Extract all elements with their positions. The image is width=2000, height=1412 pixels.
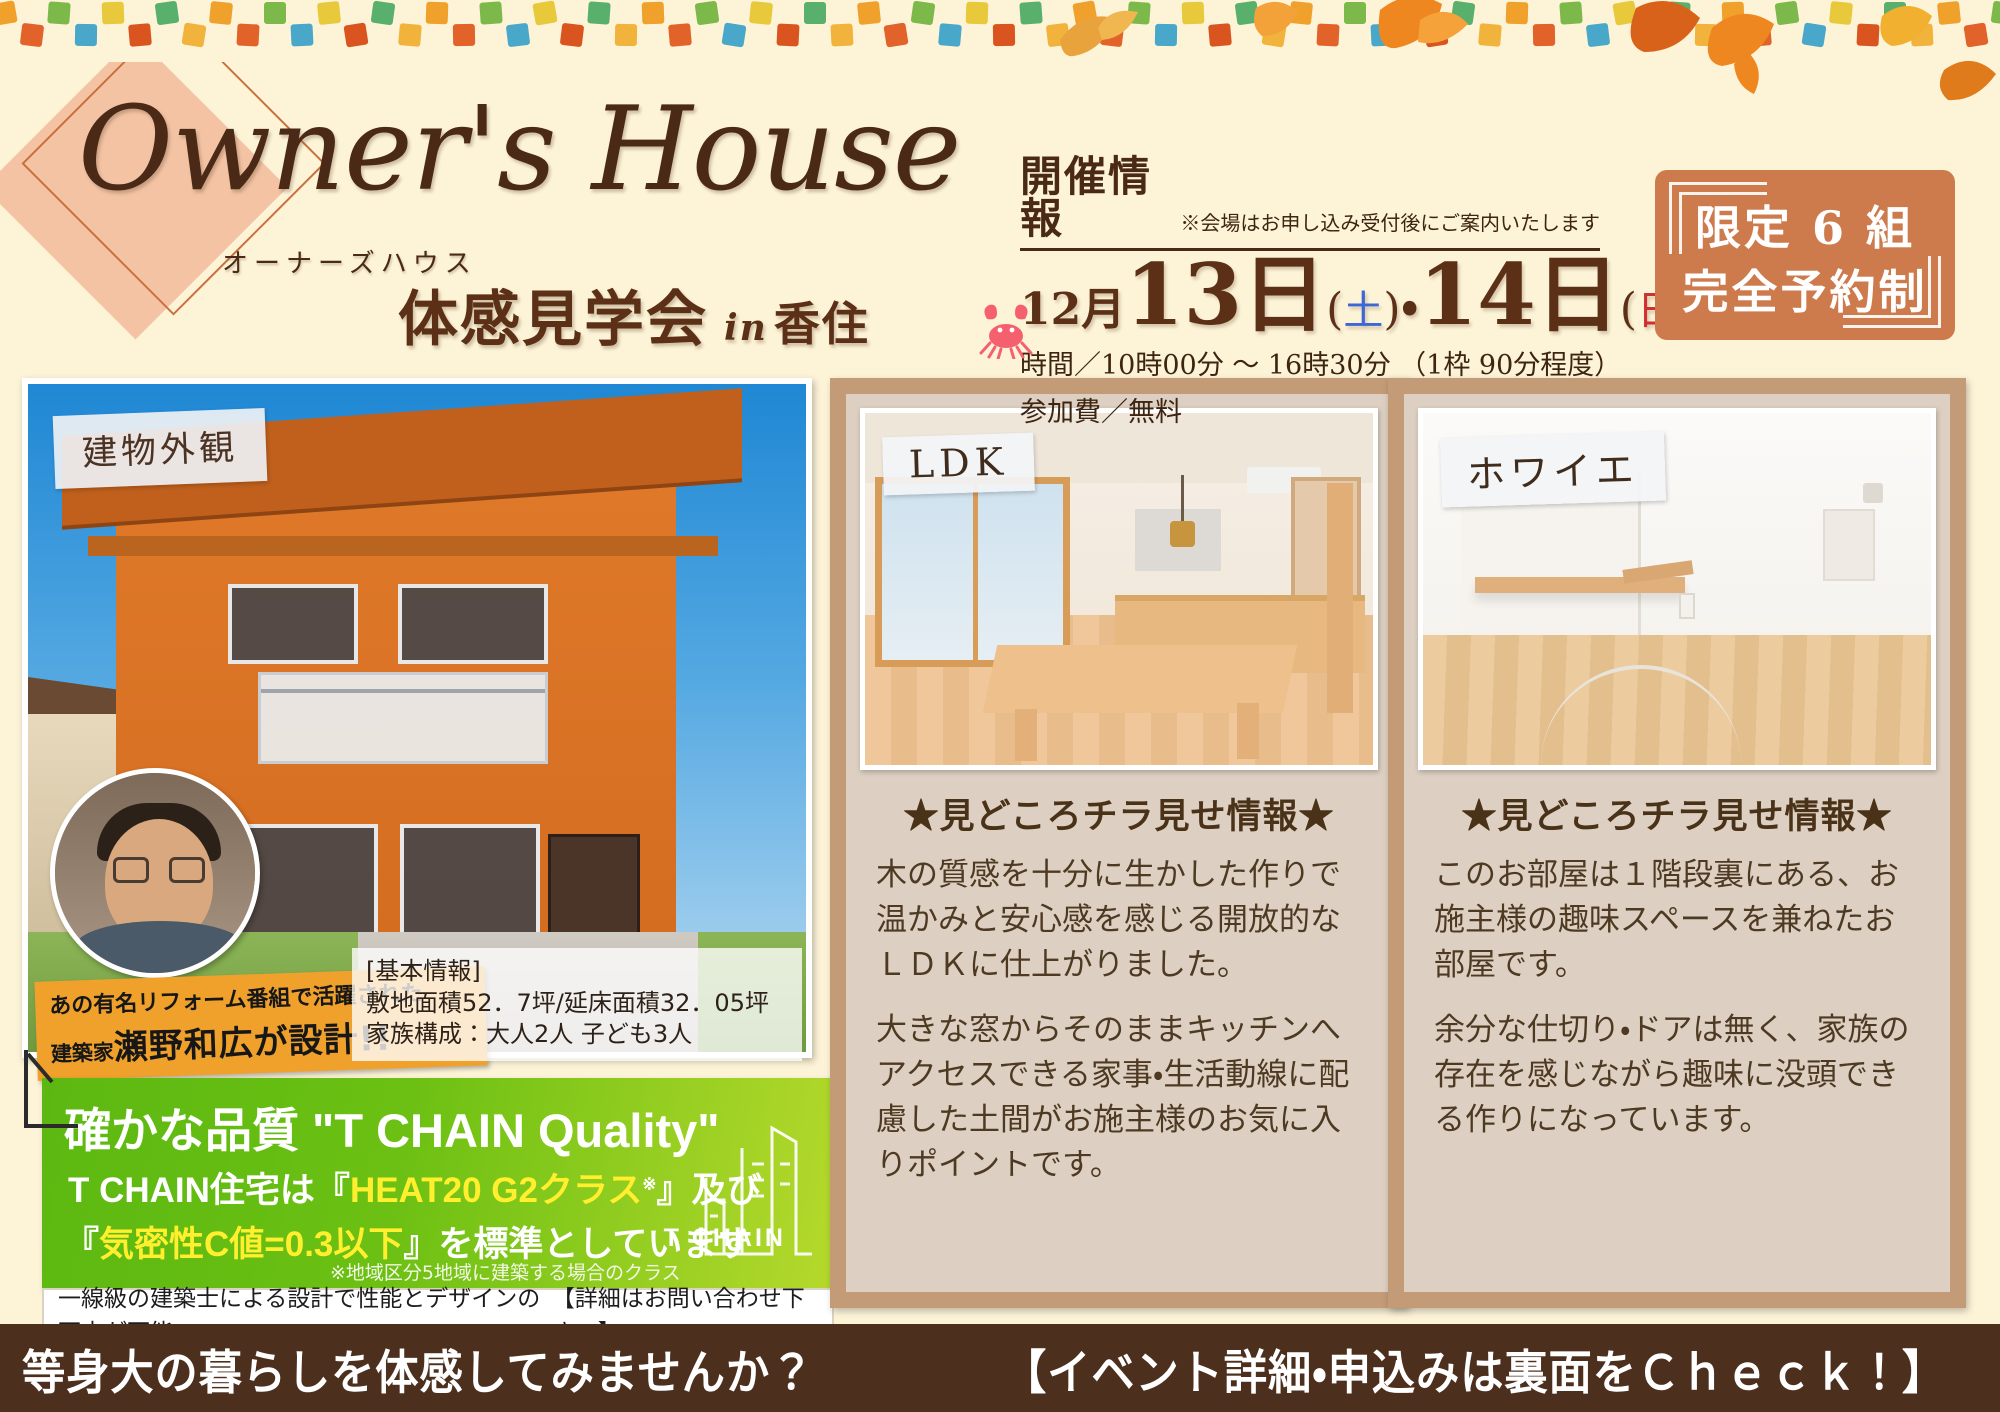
- confetti-square: [1533, 24, 1555, 46]
- event-day-1: 13日: [1125, 245, 1326, 344]
- panel-ldk-inner: LDK ★見どころチラ見せ情報★ 木の質感を十分に生かした作りで温かみと安心感を…: [846, 394, 1392, 1292]
- confetti-square: [398, 23, 422, 47]
- confetti-square: [1829, 1, 1853, 25]
- confetti-square: [1640, 23, 1665, 48]
- confetti-square: [236, 23, 259, 46]
- confetti-square: [1370, 23, 1393, 46]
- reservation-badge: 限定 6 組 完全予約制: [1655, 170, 1955, 340]
- confetti-square: [1612, 0, 1637, 25]
- event-day-2: 14日: [1419, 245, 1620, 344]
- quality-banner: 確かな品質 "T CHAIN Quality" T CHAIN住宅は『HEAT2…: [42, 1078, 834, 1288]
- event-info-block: 開催情報 ※会場はお申し込み受付後にご案内いたします 12月13日(土)・14日…: [1020, 156, 1600, 429]
- confetti-square: [1019, 1, 1042, 24]
- top-confetti-border: [0, 0, 2000, 62]
- confetti-square: [1208, 23, 1232, 47]
- confetti-square: [1261, 22, 1286, 47]
- photo-eave: [88, 536, 718, 556]
- bottom-banner-right-text: 【イベント詳細・申込みは裏面をＣｈｅｃｋ！】: [1003, 1334, 1946, 1403]
- avatar-glasses-icon: [113, 857, 205, 883]
- bottom-banner-left-text: 等身大の暮らしを体感してみませんか？: [22, 1334, 814, 1403]
- confetti-square: [1423, 22, 1448, 47]
- event-fee-line: 参加費／無料: [1020, 390, 1600, 429]
- confetti-square: [1695, 24, 1717, 46]
- ldk-pendant-lamp-icon: [1181, 475, 1184, 523]
- confetti-square: [615, 24, 637, 46]
- corner-arrow-icon: [22, 1048, 82, 1128]
- confetti-square: [1748, 23, 1772, 47]
- confetti-square: [1910, 23, 1933, 46]
- poster-header: Owner's House オーナーズハウス 体感見学会in香住 開催情報 ※会…: [0, 58, 2000, 368]
- confetti-square: [668, 23, 692, 47]
- foyer-paragraph-1: このお部屋は１階段裏にある、お施主様の趣味スペースを兼ねたお部屋です。: [1434, 853, 1924, 988]
- panel-ldk: LDK ★見どころチラ見せ情報★ 木の質感を十分に生かした作りで温かみと安心感を…: [830, 378, 1408, 1308]
- confetti-square: [47, 1, 70, 24]
- event-time-line: 時間／10時00分 〜 16時30分 （1枠 90分程度）: [1020, 343, 1600, 382]
- confetti-square: [1884, 2, 1906, 24]
- confetti-square: [181, 22, 206, 47]
- photo-balcony: [258, 672, 548, 764]
- confetti-square: [209, 1, 233, 25]
- panel-foyer: ホワイエ ★見どころチラ見せ情報★ このお部屋は１階段裏にある、お施主様の趣味ス…: [1388, 378, 1966, 1308]
- confetti-square: [1100, 23, 1125, 48]
- confetti-square: [642, 2, 665, 25]
- foyer-highlight-heading: ★見どころチラ見せ情報★: [1404, 788, 1950, 839]
- paren-open-2: (: [1620, 284, 1637, 335]
- paren-close-1: ): [1383, 284, 1400, 335]
- quality-line2-a: T CHAIN住宅は『: [68, 1171, 350, 1210]
- ldk-paragraph-2: 大きな窓からそのままキッチンへアクセスできる家事・生活動線に配慮した土間がお施主…: [876, 1008, 1366, 1188]
- confetti-square: [587, 1, 610, 24]
- event-dates: 12月13日(土)・14日(日): [1020, 253, 1600, 337]
- confetti-square: [479, 1, 502, 24]
- confetti-square: [938, 23, 962, 47]
- confetti-squares: [0, 0, 2000, 48]
- foyer-description: このお部屋は１階段裏にある、お施主様の趣味スペースを兼ねたお部屋です。 余分な仕…: [1404, 839, 1950, 1163]
- confetti-square: [532, 0, 557, 25]
- confetti-square: [20, 23, 45, 48]
- foyer-photo: ホワイエ: [1418, 408, 1936, 770]
- ldk-table-leg-right: [1237, 703, 1259, 759]
- foyer-light-switch-icon: [1679, 593, 1695, 619]
- confetti-square: [1722, 2, 1745, 25]
- quality-heat20-highlight: HEAT20 G2クラス: [350, 1171, 642, 1210]
- confetti-square: [0, 0, 18, 25]
- crab-icon: [975, 303, 1037, 364]
- basic-info-family: 家族構成：大人2人 子ども3人: [366, 1019, 790, 1051]
- confetti-square: [1506, 2, 1529, 25]
- confetti-square: [1235, 1, 1260, 26]
- confetti-square: [453, 24, 475, 46]
- confetti-square: [426, 2, 449, 25]
- foyer-shelf: [1823, 509, 1875, 581]
- architect-avatar: [50, 768, 260, 978]
- ldk-table-leg-left: [1015, 709, 1037, 761]
- confetti-square: [1316, 23, 1339, 46]
- confetti-square: [883, 22, 908, 47]
- confetti-square: [993, 24, 1015, 46]
- confetti-square: [1397, 1, 1421, 25]
- confetti-square: [560, 23, 585, 48]
- badge-reservation-text: 完全予約制: [1655, 256, 1955, 322]
- confetti-square: [695, 1, 720, 26]
- confetti-square: [1963, 22, 1988, 47]
- quality-line3-a: 『: [64, 1225, 99, 1264]
- photo-window-1: [228, 584, 358, 664]
- confetti-square: [1586, 23, 1611, 48]
- event-venue-note: ※会場はお申し込み受付後にご案内いたします: [1180, 207, 1600, 240]
- event-subtitle: 体感見学会in香住: [398, 271, 870, 358]
- confetti-square: [966, 2, 989, 25]
- ldk-paragraph-1: 木の質感を十分に生かした作りで温かみと安心感を感じる開放的なＬＤＫに仕上がりまし…: [876, 853, 1366, 988]
- bottom-banner: 等身大の暮らしを体感してみませんか？ 【イベント詳細・申込みは裏面をＣｈｅｃｋ！…: [0, 1324, 2000, 1412]
- badge-limit-text: 限定 6 組: [1655, 192, 1955, 258]
- ldk-photo: LDK: [860, 408, 1378, 770]
- confetti-square: [264, 2, 286, 24]
- confetti-square: [1775, 1, 1800, 26]
- confetti-square: [1801, 22, 1826, 47]
- confetti-square: [343, 22, 368, 47]
- confetti-square: [1667, 1, 1690, 24]
- confetti-square: [749, 1, 773, 25]
- location-name: 香住: [774, 297, 870, 351]
- confetti-square: [1182, 2, 1205, 25]
- panel-foyer-inner: ホワイエ ★見どころチラ見せ情報★ このお部屋は１階段裏にある、お施主様の趣味ス…: [1404, 394, 1950, 1292]
- confetti-square: [1559, 1, 1582, 24]
- confetti-square: [128, 23, 152, 47]
- basic-info-box: [基本情報] 敷地面積52．7坪/延床面積32．05坪 家族構成：大人2人 子ど…: [352, 948, 802, 1061]
- architect-name: 瀬野和広が設計!!: [113, 1018, 392, 1068]
- confetti-square: [1127, 1, 1150, 24]
- confetti-square: [1478, 23, 1502, 47]
- ldk-description: 木の質感を十分に生かした作りで温かみと安心感を感じる開放的なＬＤＫに仕上がりまし…: [846, 839, 1392, 1208]
- photo-balcony-rail: [261, 689, 545, 693]
- quality-headline: 確かな品質 "T CHAIN Quality": [64, 1092, 720, 1161]
- left-column: 建物外観 あの有名リフォーム番組で活躍された 建築家瀬野和広が設計!! [基本情…: [22, 378, 812, 1308]
- confetti-square: [1046, 23, 1071, 48]
- confetti-square: [102, 2, 125, 25]
- confetti-square: [506, 23, 531, 48]
- avatar-shirt: [75, 921, 245, 973]
- event-day-1-weekday: 土: [1343, 288, 1383, 334]
- foyer-paragraph-2: 余分な仕切り・ドアは無く、家族の存在を感じながら趣味に没頭できる作りになっていま…: [1434, 1008, 1924, 1143]
- ldk-photo-tag: LDK: [882, 433, 1035, 496]
- basic-info-title: [基本情報]: [366, 956, 790, 988]
- confetti-square: [1451, 1, 1476, 26]
- confetti-square: [830, 23, 853, 46]
- foyer-photo-tag: ホワイエ: [1440, 432, 1666, 508]
- confetti-square: [1072, 0, 1097, 25]
- ldk-wooden-post: [1327, 483, 1353, 713]
- confetti-square: [1856, 23, 1879, 46]
- confetti-square: [371, 1, 396, 26]
- event-info-heading: 開催情報: [1020, 156, 1168, 240]
- confetti-square: [721, 22, 746, 47]
- confetti-square: [155, 1, 180, 26]
- foyer-wall-panel: [1863, 483, 1883, 503]
- date-separator: ・: [1400, 274, 1418, 337]
- confetti-square: [290, 23, 313, 46]
- confetti-square: [911, 1, 936, 26]
- confetti-square: [776, 23, 799, 46]
- ldk-highlight-heading: ★見どころチラ見せ情報★: [846, 788, 1392, 839]
- page-title: Owner's House: [78, 82, 960, 217]
- confetti-square: [317, 1, 341, 25]
- paren-open-1: (: [1326, 284, 1343, 335]
- confetti-square: [804, 2, 826, 24]
- confetti-square: [1344, 2, 1366, 24]
- photo-window-2: [398, 584, 548, 664]
- subtitle-text: 体感見学会: [398, 285, 708, 355]
- ldk-glass-door: [875, 477, 1070, 667]
- confetti-square: [1155, 24, 1177, 46]
- location-preposition: in: [708, 307, 774, 349]
- confetti-square: [1937, 1, 1961, 25]
- confetti-square: [1991, 1, 2000, 26]
- exterior-photo-tag: 建物外観: [53, 408, 268, 489]
- confetti-square: [1289, 1, 1313, 25]
- confetti-square: [857, 1, 881, 25]
- confetti-square: [75, 24, 97, 46]
- t-chain-logo-text: T CHAIN: [664, 1224, 786, 1253]
- basic-info-area: 敷地面積52．7坪/延床面積32．05坪: [366, 988, 790, 1020]
